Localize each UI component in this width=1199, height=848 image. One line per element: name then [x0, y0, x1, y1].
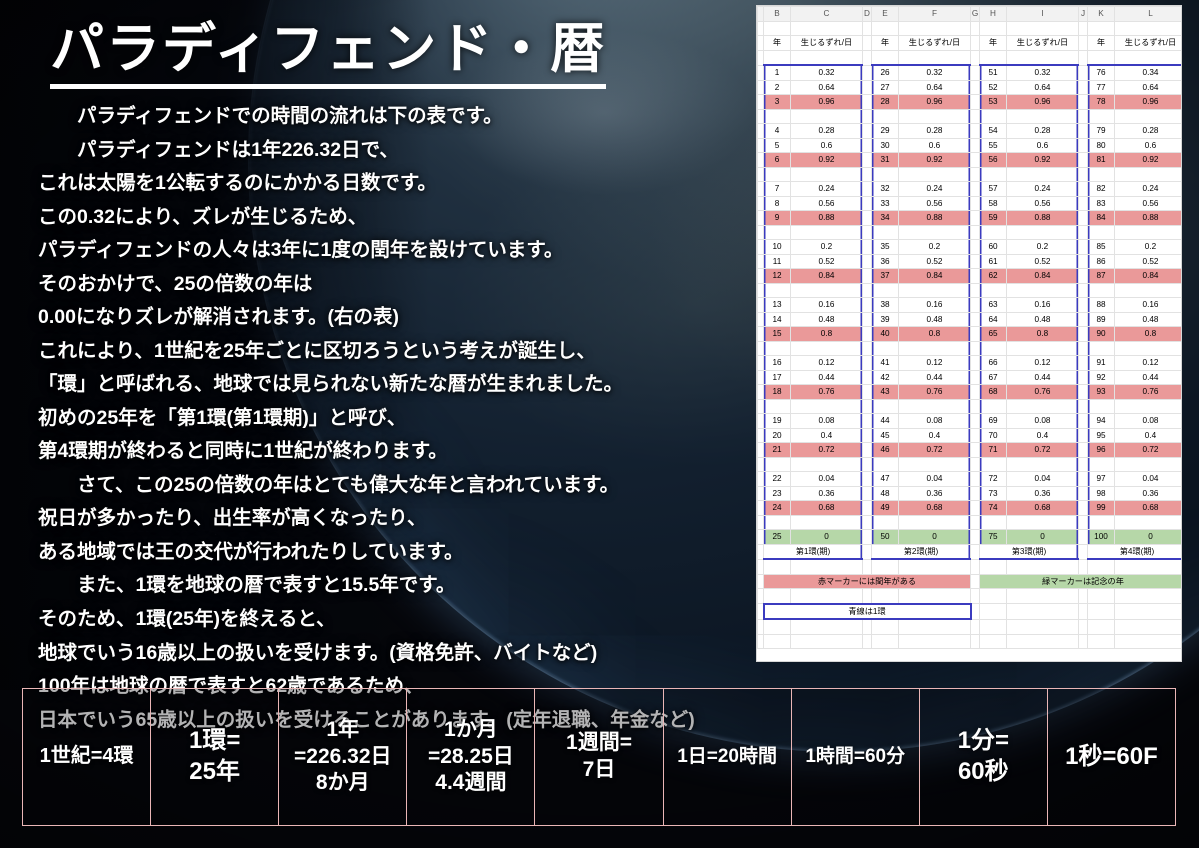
cell-drift[interactable]: 0.68 [1115, 501, 1182, 516]
table-row[interactable]: 160.12410.12660.12910.12 [758, 356, 1182, 371]
cell-drift[interactable]: 0.8 [791, 327, 863, 342]
sheet-cell[interactable] [764, 559, 791, 574]
cell-drift[interactable]: 0.88 [899, 211, 971, 226]
cell-year[interactable]: 77 [1088, 80, 1115, 95]
cell-year[interactable]: 79 [1088, 124, 1115, 139]
cell-year[interactable]: 38 [872, 298, 899, 313]
table-row[interactable]: 230.36480.36730.36980.36 [758, 486, 1182, 501]
cell-drift[interactable]: 0.8 [899, 327, 971, 342]
cell-drift[interactable]: 0.76 [1115, 385, 1182, 400]
cell-drift[interactable]: 0.36 [791, 486, 863, 501]
cell-drift[interactable]: 0.6 [899, 138, 971, 153]
legend-green-marker[interactable]: 緑マーカーは記念の年 [980, 574, 1182, 589]
cell-year[interactable]: 39 [872, 312, 899, 327]
table-row[interactable]: 70.24320.24570.24820.24 [758, 182, 1182, 197]
sheet-cell[interactable] [971, 589, 980, 604]
sheet-cell[interactable] [980, 619, 1007, 634]
cell-year[interactable]: 83 [1088, 196, 1115, 211]
cell-year[interactable]: 76 [1088, 65, 1115, 80]
sheet-cell[interactable] [1088, 50, 1115, 65]
sheet-cell[interactable] [1115, 515, 1182, 530]
cell-drift[interactable]: 0.92 [791, 153, 863, 168]
cell-drift[interactable]: 0.34 [1115, 65, 1182, 80]
cell-year[interactable]: 10 [764, 240, 791, 255]
cell-year[interactable]: 14 [764, 312, 791, 327]
sheet-cell[interactable] [1007, 457, 1079, 472]
cell-drift[interactable]: 0.44 [1007, 370, 1079, 385]
sheet-cell[interactable] [872, 50, 899, 65]
cell-drift[interactable]: 0 [1007, 530, 1079, 545]
cell-drift[interactable]: 0.6 [1007, 138, 1079, 153]
cell-year[interactable]: 3 [764, 95, 791, 110]
sheet-cell[interactable] [899, 341, 971, 356]
cell-drift[interactable]: 0 [899, 530, 971, 545]
sheet-cell[interactable] [971, 50, 980, 65]
cell-drift[interactable]: 0.12 [899, 356, 971, 371]
cell-drift[interactable]: 0.92 [899, 153, 971, 168]
sheet-cell[interactable] [1007, 50, 1079, 65]
cell-drift[interactable]: 0.64 [899, 80, 971, 95]
table-row[interactable]: 240.68490.68740.68990.68 [758, 501, 1182, 516]
table-row[interactable]: 2505007501000 [758, 530, 1182, 545]
cell-drift[interactable]: 0.64 [791, 80, 863, 95]
cell-drift[interactable]: 0.96 [1115, 95, 1182, 110]
header-year[interactable]: 年 [1088, 36, 1115, 51]
cell-drift[interactable]: 0.48 [899, 312, 971, 327]
cell-year[interactable]: 48 [872, 486, 899, 501]
cell-drift[interactable]: 0.04 [899, 472, 971, 487]
sheet-cell[interactable] [791, 109, 863, 124]
cell-year[interactable]: 6 [764, 153, 791, 168]
cell-year[interactable]: 54 [980, 124, 1007, 139]
sheet-cell[interactable] [1007, 399, 1079, 414]
cell-year[interactable]: 63 [980, 298, 1007, 313]
column-letter-E[interactable]: E [872, 7, 899, 22]
cell-year[interactable]: 44 [872, 414, 899, 429]
column-letter-G[interactable]: G [971, 7, 980, 22]
sheet-cell[interactable] [1079, 21, 1088, 36]
ring-label[interactable]: 第4環(期) [1088, 544, 1182, 559]
cell-year[interactable]: 99 [1088, 501, 1115, 516]
cell-drift[interactable]: 0.6 [1115, 138, 1182, 153]
cell-drift[interactable]: 0.52 [899, 254, 971, 269]
sheet-cell[interactable] [1115, 559, 1182, 574]
cell-drift[interactable]: 0.72 [1115, 443, 1182, 458]
sheet-cell[interactable] [980, 634, 1007, 649]
cell-year[interactable]: 97 [1088, 472, 1115, 487]
sheet-cell[interactable] [1088, 109, 1115, 124]
sheet-cell[interactable] [980, 50, 1007, 65]
cell-drift[interactable]: 0.04 [1115, 472, 1182, 487]
table-row[interactable]: 140.48390.48640.48890.48 [758, 312, 1182, 327]
header-year[interactable]: 年 [872, 36, 899, 51]
cell-year[interactable]: 47 [872, 472, 899, 487]
sheet-cell[interactable] [764, 619, 791, 634]
cell-year[interactable]: 69 [980, 414, 1007, 429]
cell-drift[interactable]: 0.44 [1115, 370, 1182, 385]
cell-year[interactable]: 5 [764, 138, 791, 153]
cell-year[interactable]: 4 [764, 124, 791, 139]
cell-year[interactable]: 22 [764, 472, 791, 487]
cell-drift[interactable]: 0.72 [899, 443, 971, 458]
cell-drift[interactable]: 0.76 [1007, 385, 1079, 400]
table-row[interactable]: 60.92310.92560.92810.92 [758, 153, 1182, 168]
cell-year[interactable]: 12 [764, 269, 791, 284]
cell-drift[interactable]: 0.04 [791, 472, 863, 487]
cell-year[interactable]: 46 [872, 443, 899, 458]
column-letter-C[interactable]: C [791, 7, 863, 22]
table-row[interactable]: 120.84370.84620.84870.84 [758, 269, 1182, 284]
cell-year[interactable]: 74 [980, 501, 1007, 516]
cell-year[interactable]: 42 [872, 370, 899, 385]
cell-year[interactable]: 92 [1088, 370, 1115, 385]
sheet-cell[interactable] [1115, 167, 1182, 182]
cell-year[interactable]: 61 [980, 254, 1007, 269]
cell-year[interactable]: 19 [764, 414, 791, 429]
sheet-cell[interactable] [980, 399, 1007, 414]
cell-year[interactable]: 70 [980, 428, 1007, 443]
sheet-cell[interactable] [872, 283, 899, 298]
sheet-cell[interactable] [872, 559, 899, 574]
cell-drift[interactable]: 0.24 [791, 182, 863, 197]
sheet-cell[interactable] [1088, 457, 1115, 472]
sheet-cell[interactable] [899, 399, 971, 414]
sheet-cell[interactable] [764, 109, 791, 124]
sheet-cell[interactable] [1088, 604, 1115, 620]
cell-drift[interactable]: 0.56 [791, 196, 863, 211]
cell-drift[interactable]: 0.16 [1115, 298, 1182, 313]
cell-drift[interactable]: 0.08 [1115, 414, 1182, 429]
sheet-cell[interactable] [764, 457, 791, 472]
cell-drift[interactable]: 0.52 [1115, 254, 1182, 269]
cell-year[interactable]: 91 [1088, 356, 1115, 371]
sheet-cell[interactable] [1007, 21, 1079, 36]
cell-drift[interactable]: 0.24 [1115, 182, 1182, 197]
cell-year[interactable]: 98 [1088, 486, 1115, 501]
column-letter-F[interactable]: F [899, 7, 971, 22]
cell-year[interactable]: 85 [1088, 240, 1115, 255]
sheet-cell[interactable] [872, 167, 899, 182]
cell-drift[interactable]: 0.16 [791, 298, 863, 313]
sheet-cell[interactable] [872, 619, 899, 634]
cell-year[interactable]: 71 [980, 443, 1007, 458]
cell-drift[interactable]: 0.08 [1007, 414, 1079, 429]
cell-drift[interactable]: 0.4 [899, 428, 971, 443]
sheet-cell[interactable] [1115, 634, 1182, 649]
cell-drift[interactable]: 0 [791, 530, 863, 545]
cell-year[interactable]: 26 [872, 65, 899, 80]
table-row[interactable]: 100.2350.2600.2850.2 [758, 240, 1182, 255]
cell-drift[interactable]: 0.68 [791, 501, 863, 516]
sheet-cell[interactable] [980, 109, 1007, 124]
cell-year[interactable]: 78 [1088, 95, 1115, 110]
cell-year[interactable]: 88 [1088, 298, 1115, 313]
cell-year[interactable]: 87 [1088, 269, 1115, 284]
sheet-cell[interactable] [791, 589, 863, 604]
sheet-cell[interactable] [791, 283, 863, 298]
cell-year[interactable]: 66 [980, 356, 1007, 371]
sheet-cell[interactable] [980, 21, 1007, 36]
table-row[interactable]: 50.6300.6550.6800.6 [758, 138, 1182, 153]
cell-drift[interactable]: 0.2 [1115, 240, 1182, 255]
cell-drift[interactable]: 0.36 [1115, 486, 1182, 501]
sheet-cell[interactable] [1115, 225, 1182, 240]
legend-blue-line[interactable]: 青線は1環 [764, 604, 971, 620]
sheet-cell[interactable] [899, 50, 971, 65]
sheet-cell[interactable] [872, 399, 899, 414]
cell-year[interactable]: 59 [980, 211, 1007, 226]
header-year[interactable]: 年 [980, 36, 1007, 51]
sheet-cell[interactable] [1079, 559, 1088, 574]
cell-drift[interactable]: 0.72 [1007, 443, 1079, 458]
cell-year[interactable]: 94 [1088, 414, 1115, 429]
cell-drift[interactable]: 0.04 [1007, 472, 1079, 487]
column-letter-K[interactable]: K [1088, 7, 1115, 22]
cell-year[interactable]: 93 [1088, 385, 1115, 400]
sheet-cell[interactable] [791, 341, 863, 356]
cell-year[interactable]: 24 [764, 501, 791, 516]
cell-year[interactable]: 33 [872, 196, 899, 211]
cell-year[interactable]: 15 [764, 327, 791, 342]
cell-drift[interactable]: 0.88 [1115, 211, 1182, 226]
sheet-cell[interactable] [764, 283, 791, 298]
cell-year[interactable]: 20 [764, 428, 791, 443]
cell-year[interactable]: 100 [1088, 530, 1115, 545]
cell-year[interactable]: 41 [872, 356, 899, 371]
cell-year[interactable]: 80 [1088, 138, 1115, 153]
sheet-cell[interactable] [872, 225, 899, 240]
cell-drift[interactable]: 0.36 [1007, 486, 1079, 501]
sheet-cell[interactable] [1007, 225, 1079, 240]
cell-drift[interactable]: 0.08 [899, 414, 971, 429]
header-year[interactable]: 年 [764, 36, 791, 51]
sheet-cell[interactable] [764, 589, 791, 604]
cell-year[interactable]: 34 [872, 211, 899, 226]
cell-drift[interactable]: 0.44 [899, 370, 971, 385]
sheet-cell[interactable] [980, 559, 1007, 574]
sheet-cell[interactable] [863, 21, 872, 36]
sheet-cell[interactable] [980, 225, 1007, 240]
sheet-cell[interactable] [863, 559, 872, 574]
sheet-cell[interactable] [1088, 283, 1115, 298]
cell-drift[interactable]: 0.76 [899, 385, 971, 400]
cell-drift[interactable]: 0.84 [1115, 269, 1182, 284]
sheet-cell[interactable] [1007, 515, 1079, 530]
cell-drift[interactable]: 0.08 [791, 414, 863, 429]
cell-drift[interactable]: 0.92 [1115, 153, 1182, 168]
sheet-cell[interactable] [1007, 589, 1079, 604]
sheet-cell[interactable] [764, 634, 791, 649]
cell-drift[interactable]: 0.64 [1115, 80, 1182, 95]
sheet-cell[interactable] [791, 457, 863, 472]
cell-year[interactable]: 90 [1088, 327, 1115, 342]
cell-drift[interactable]: 0.32 [791, 65, 863, 80]
sheet-cell[interactable] [1115, 604, 1182, 620]
sheet-cell[interactable] [863, 589, 872, 604]
cell-year[interactable]: 95 [1088, 428, 1115, 443]
sheet-cell[interactable] [899, 559, 971, 574]
cell-year[interactable]: 1 [764, 65, 791, 80]
cell-drift[interactable]: 0.28 [899, 124, 971, 139]
sheet-cell[interactable] [1088, 619, 1115, 634]
sheet-cell[interactable] [1007, 619, 1079, 634]
sheet-cell[interactable] [1079, 634, 1088, 649]
sheet-cell[interactable] [899, 457, 971, 472]
cell-drift[interactable]: 0.24 [1007, 182, 1079, 197]
sheet-cell[interactable] [1088, 559, 1115, 574]
cell-drift[interactable]: 0.68 [899, 501, 971, 516]
cell-year[interactable]: 75 [980, 530, 1007, 545]
cell-drift[interactable]: 0.48 [791, 312, 863, 327]
sheet-cell[interactable] [980, 589, 1007, 604]
sheet-cell[interactable] [1115, 341, 1182, 356]
sheet-cell[interactable] [791, 225, 863, 240]
cell-year[interactable]: 89 [1088, 312, 1115, 327]
table-row[interactable]: 30.96280.96530.96780.96 [758, 95, 1182, 110]
sheet-cell[interactable] [764, 167, 791, 182]
cell-year[interactable]: 53 [980, 95, 1007, 110]
cell-year[interactable]: 18 [764, 385, 791, 400]
cell-year[interactable]: 67 [980, 370, 1007, 385]
cell-drift[interactable]: 0.96 [1007, 95, 1079, 110]
cell-year[interactable]: 32 [872, 182, 899, 197]
cell-drift[interactable]: 0.56 [1007, 196, 1079, 211]
table-row[interactable]: 210.72460.72710.72960.72 [758, 443, 1182, 458]
cell-drift[interactable]: 0.48 [1115, 312, 1182, 327]
cell-year[interactable]: 37 [872, 269, 899, 284]
sheet-cell[interactable] [899, 589, 971, 604]
sheet-cell[interactable] [1007, 634, 1079, 649]
sheet-cell[interactable] [971, 619, 980, 634]
table-row[interactable]: 170.44420.44670.44920.44 [758, 370, 1182, 385]
cell-drift[interactable]: 0.96 [791, 95, 863, 110]
cell-drift[interactable]: 0.32 [899, 65, 971, 80]
table-row[interactable]: 150.8400.8650.8900.8 [758, 327, 1182, 342]
table-row[interactable]: 110.52360.52610.52860.52 [758, 254, 1182, 269]
cell-year[interactable]: 17 [764, 370, 791, 385]
cell-year[interactable]: 64 [980, 312, 1007, 327]
column-letter-B[interactable]: B [764, 7, 791, 22]
sheet-cell[interactable] [1115, 457, 1182, 472]
cell-drift[interactable]: 0.24 [899, 182, 971, 197]
header-drift[interactable]: 生じるずれ/日 [1115, 36, 1182, 51]
cell-drift[interactable]: 0.36 [899, 486, 971, 501]
sheet-cell[interactable] [1079, 589, 1088, 604]
cell-year[interactable]: 43 [872, 385, 899, 400]
cell-year[interactable]: 58 [980, 196, 1007, 211]
cell-drift[interactable]: 0.84 [1007, 269, 1079, 284]
sheet-cell[interactable] [863, 634, 872, 649]
cell-drift[interactable]: 0.76 [791, 385, 863, 400]
sheet-cell[interactable] [1115, 399, 1182, 414]
cell-drift[interactable]: 0.12 [791, 356, 863, 371]
cell-year[interactable]: 29 [872, 124, 899, 139]
cell-drift[interactable]: 0.4 [791, 428, 863, 443]
cell-drift[interactable]: 0.2 [1007, 240, 1079, 255]
cell-year[interactable]: 45 [872, 428, 899, 443]
cell-year[interactable]: 72 [980, 472, 1007, 487]
cell-drift[interactable]: 0.96 [899, 95, 971, 110]
sheet-cell[interactable] [872, 457, 899, 472]
cell-year[interactable]: 35 [872, 240, 899, 255]
table-row[interactable]: 80.56330.56580.56830.56 [758, 196, 1182, 211]
table-row[interactable]: 200.4450.4700.4950.4 [758, 428, 1182, 443]
cell-drift[interactable]: 0.28 [1115, 124, 1182, 139]
sheet-cell[interactable] [872, 109, 899, 124]
sheet-cell[interactable] [980, 341, 1007, 356]
sheet-cell[interactable] [872, 21, 899, 36]
sheet-cell[interactable] [1007, 341, 1079, 356]
cell-year[interactable]: 8 [764, 196, 791, 211]
table-row[interactable]: 190.08440.08690.08940.08 [758, 414, 1182, 429]
sheet-cell[interactable] [899, 167, 971, 182]
cell-drift[interactable]: 0.28 [791, 124, 863, 139]
column-letter-H[interactable]: H [980, 7, 1007, 22]
sheet-cell[interactable] [899, 515, 971, 530]
sheet-cell[interactable] [980, 283, 1007, 298]
cell-drift[interactable]: 0.84 [899, 269, 971, 284]
table-row[interactable]: 130.16380.16630.16880.16 [758, 298, 1182, 313]
header-drift[interactable]: 生じるずれ/日 [1007, 36, 1079, 51]
cell-drift[interactable]: 0.88 [791, 211, 863, 226]
cell-year[interactable]: 82 [1088, 182, 1115, 197]
sheet-cell[interactable] [1088, 341, 1115, 356]
cell-year[interactable]: 40 [872, 327, 899, 342]
sheet-cell[interactable] [872, 634, 899, 649]
table-row[interactable]: 40.28290.28540.28790.28 [758, 124, 1182, 139]
cell-year[interactable]: 16 [764, 356, 791, 371]
cell-drift[interactable]: 0.92 [1007, 153, 1079, 168]
sheet-cell[interactable] [980, 515, 1007, 530]
sheet-cell[interactable] [1115, 21, 1182, 36]
header-drift[interactable]: 生じるずれ/日 [791, 36, 863, 51]
sheet-cell[interactable] [899, 283, 971, 298]
table-row[interactable]: 20.64270.64520.64770.64 [758, 80, 1182, 95]
cell-year[interactable]: 68 [980, 385, 1007, 400]
sheet-cell[interactable] [1115, 619, 1182, 634]
sheet-cell[interactable] [899, 21, 971, 36]
sheet-cell[interactable] [764, 50, 791, 65]
cell-drift[interactable]: 0.16 [1007, 298, 1079, 313]
sheet-cell[interactable] [764, 515, 791, 530]
column-letter-L[interactable]: L [1115, 7, 1182, 22]
sheet-cell[interactable] [1007, 167, 1079, 182]
sheet-cell[interactable] [1007, 559, 1079, 574]
sheet-cell[interactable] [791, 634, 863, 649]
cell-year[interactable]: 56 [980, 153, 1007, 168]
sheet-cell[interactable] [872, 341, 899, 356]
sheet-cell[interactable] [971, 559, 980, 574]
cell-year[interactable]: 52 [980, 80, 1007, 95]
cell-year[interactable]: 49 [872, 501, 899, 516]
sheet-cell[interactable] [791, 167, 863, 182]
sheet-cell[interactable] [899, 225, 971, 240]
sheet-cell[interactable] [1079, 604, 1088, 620]
sheet-cell[interactable] [980, 167, 1007, 182]
sheet-cell[interactable] [980, 604, 1007, 620]
sheet-cell[interactable] [1088, 21, 1115, 36]
calendar-drift-spreadsheet[interactable]: BCDEFGHIJKL年生じるずれ/日年生じるずれ/日年生じるずれ/日年生じるず… [757, 6, 1181, 661]
cell-drift[interactable]: 0.6 [791, 138, 863, 153]
cell-year[interactable]: 9 [764, 211, 791, 226]
sheet-cell[interactable] [791, 515, 863, 530]
sheet-cell[interactable] [1115, 109, 1182, 124]
cell-drift[interactable]: 0.2 [899, 240, 971, 255]
cell-drift[interactable]: 0.8 [1115, 327, 1182, 342]
sheet-cell[interactable] [899, 109, 971, 124]
sheet-cell[interactable] [1007, 604, 1079, 620]
sheet-cell[interactable] [1088, 399, 1115, 414]
